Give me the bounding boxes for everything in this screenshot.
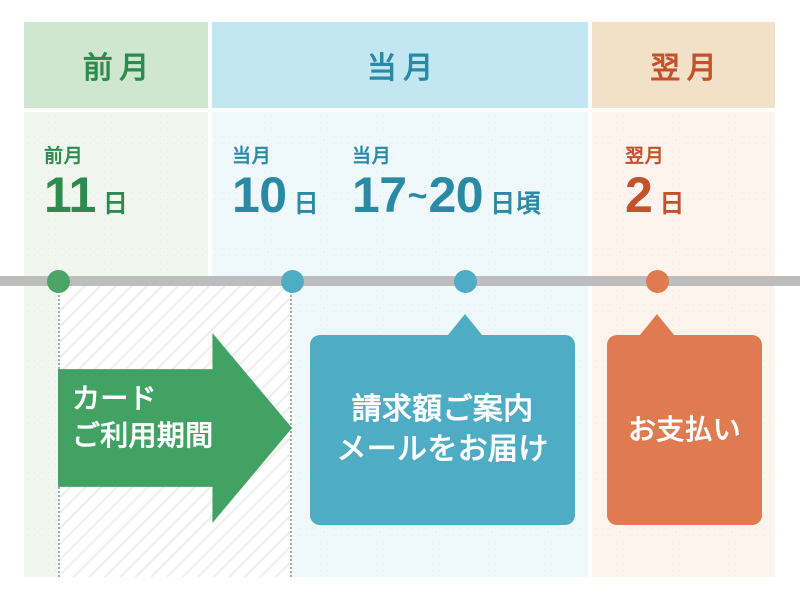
column-header-prev: 前月	[24, 22, 208, 108]
milestone-day-line: 10 日	[232, 170, 319, 220]
callout-tail-icon	[448, 314, 482, 335]
column-header-current: 当月	[212, 22, 588, 108]
callout-billing-mail-line-2: メールをお届け	[336, 430, 548, 470]
milestone-day-suffix: 日	[294, 192, 320, 217]
milestone-month-label: 当月	[352, 146, 541, 168]
milestone-date-closing: 当月 10 日	[232, 146, 319, 220]
milestone-month-label: 翌月	[625, 146, 685, 168]
milestone-day-number: 10	[232, 170, 287, 220]
timeline-dot-usage-start	[47, 270, 70, 293]
milestone-day-suffix: 日頃	[490, 192, 541, 217]
timeline-dot-mail-notice	[454, 270, 477, 293]
milestone-day-number: 11	[44, 170, 96, 220]
callout-billing-mail: 請求額ご案内 メールをお届け	[310, 335, 575, 525]
timeline-dot-closing	[281, 270, 304, 293]
milestone-date-mail-notice: 当月 17 ~ 20 日頃	[352, 146, 541, 220]
milestone-day-number: 2	[625, 170, 652, 220]
usage-period-arrow-line-1: カード	[72, 381, 262, 418]
callout-billing-mail-label: 請求額ご案内 メールをお届け	[336, 390, 548, 469]
milestone-day-line: 2 日	[625, 170, 685, 220]
callout-tail-icon	[640, 314, 674, 335]
milestone-day-line: 17 ~ 20 日頃	[352, 170, 541, 220]
milestone-day-suffix: 日	[103, 192, 129, 217]
callout-payment-line-1: お支払い	[628, 412, 741, 449]
timeline-diagram: 前月 当月 翌月 前月 11 日 当月 10 日 当月 17 ~ 20 日頃 翌…	[0, 0, 800, 600]
milestone-day-suffix: 日	[659, 192, 685, 217]
usage-period-arrow-line-2: ご利用期間	[72, 418, 262, 455]
callout-payment-label: お支払い	[628, 412, 741, 449]
callout-billing-mail-line-1: 請求額ご案内	[336, 390, 548, 430]
milestone-date-payment: 翌月 2 日	[625, 146, 685, 220]
milestone-day-number-start: 17	[352, 170, 407, 220]
callout-payment: お支払い	[607, 335, 762, 525]
milestone-day-number-end: 20	[428, 170, 483, 220]
milestone-range-separator: ~	[407, 179, 429, 213]
milestone-month-label: 前月	[44, 146, 128, 168]
timeline-dot-payment	[646, 270, 669, 293]
timeline-rail	[0, 276, 800, 286]
milestone-date-usage-start: 前月 11 日	[44, 146, 128, 220]
milestone-month-label: 当月	[232, 146, 319, 168]
milestone-day-line: 11 日	[44, 170, 128, 220]
column-header-next: 翌月	[592, 22, 775, 108]
usage-period-arrow-label: カード ご利用期間	[72, 381, 262, 455]
